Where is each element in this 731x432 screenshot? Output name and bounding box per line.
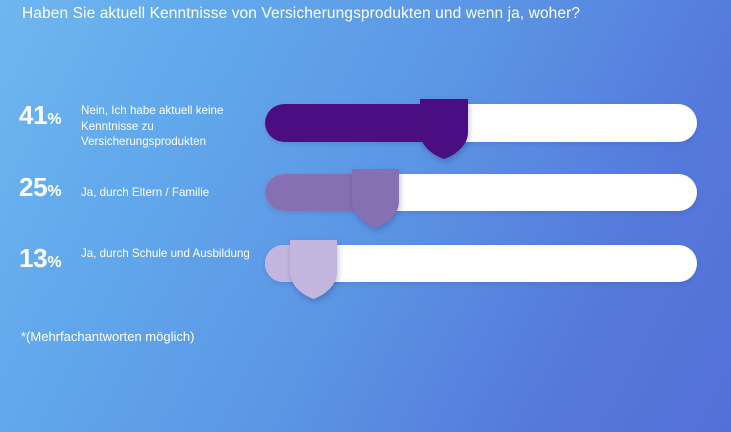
category-label: Ja, durch Eltern / Familie [81, 185, 256, 201]
shield-marker-icon [420, 99, 468, 159]
infographic-canvas: Haben Sie aktuell Kenntnisse von Versich… [0, 0, 731, 432]
value-label: 13% [19, 245, 62, 271]
value-label: 41% [19, 102, 62, 128]
value-label: 25% [19, 174, 62, 200]
bar-track [265, 174, 697, 211]
shield-marker-icon [352, 169, 399, 228]
percent-symbol: % [47, 111, 61, 128]
footnote-text: *(Mehrfachantworten möglich) [21, 329, 194, 344]
percent-symbol: % [47, 183, 61, 200]
bar-track [265, 104, 697, 142]
category-label: Ja, durch Schule und Ausbildung [81, 246, 256, 262]
value-number: 25 [19, 172, 47, 202]
shield-marker-icon [290, 240, 337, 299]
category-label: Nein, Ich habe aktuell keine Kenntnisse … [81, 103, 256, 150]
value-number: 41 [19, 100, 47, 130]
percent-symbol: % [47, 254, 61, 271]
value-number: 13 [19, 243, 47, 273]
chart-rows: 41% Nein, Ich habe aktuell keine Kenntni… [0, 0, 731, 432]
